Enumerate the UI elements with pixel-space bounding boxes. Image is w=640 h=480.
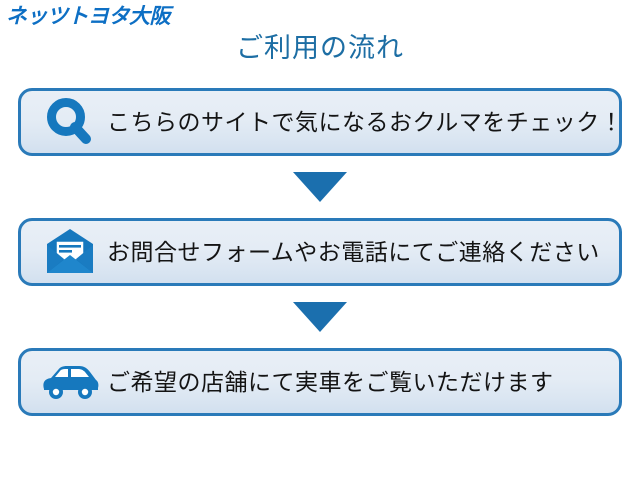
arrow-down-icon xyxy=(293,172,347,202)
flow-step-3-label: ご希望の店舗にて実車をご覧いただけます xyxy=(101,371,619,394)
arrow-down-icon xyxy=(293,302,347,332)
magnifier-icon xyxy=(39,97,101,147)
flow-connector-1 xyxy=(0,156,640,218)
brand-logo: ネッツトヨタ大阪 xyxy=(6,6,170,27)
flow-step-2-label: お問合せフォームやお電話にてご連絡ください xyxy=(101,241,619,264)
usage-flow-diagram: こちらのサイトで気になるおクルマをチェック！ お問合せフォームやお電話にてご連絡… xyxy=(0,88,640,416)
envelope-mail-icon xyxy=(39,227,101,277)
car-icon xyxy=(39,357,101,407)
flow-connector-2 xyxy=(0,286,640,348)
flow-step-2: お問合せフォームやお電話にてご連絡ください xyxy=(18,218,622,286)
flow-step-1-label: こちらのサイトで気になるおクルマをチェック！ xyxy=(101,111,623,134)
flow-step-1: こちらのサイトで気になるおクルマをチェック！ xyxy=(18,88,622,156)
flow-step-3: ご希望の店舗にて実車をご覧いただけます xyxy=(18,348,622,416)
page-title: ご利用の流れ xyxy=(0,34,640,64)
